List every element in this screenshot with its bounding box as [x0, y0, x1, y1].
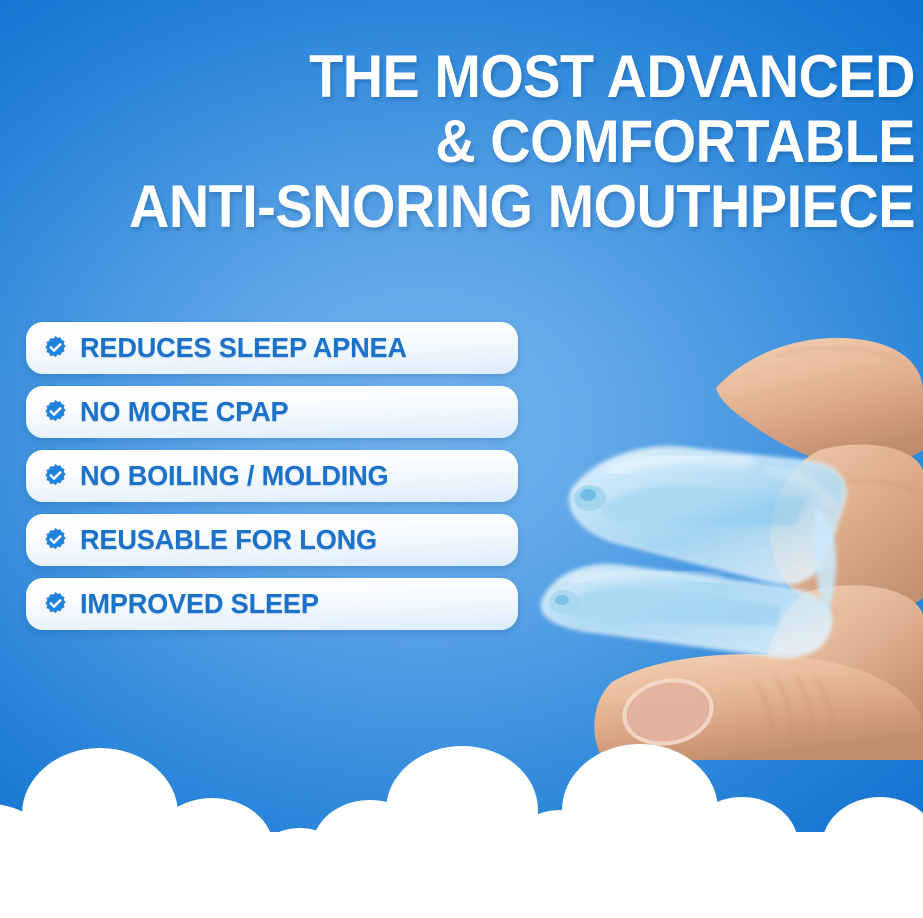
verified-check-badge-icon [42, 335, 69, 362]
feature-label: REUSABLE FOR LONG [80, 524, 377, 556]
headline-line-2: & COMFORTABLE [115, 109, 915, 174]
page-title: THE MOST ADVANCED & COMFORTABLE ANTI-SNO… [115, 44, 915, 239]
feature-item-reduces-sleep-apnea[interactable]: REDUCES SLEEP APNEA [26, 322, 518, 374]
verified-check-badge-icon [42, 527, 69, 554]
verified-check-badge-icon [42, 399, 69, 426]
promo-poster: THE MOST ADVANCED & COMFORTABLE ANTI-SNO… [0, 0, 923, 918]
verified-check-badge-icon [42, 463, 69, 490]
feature-item-no-boiling-molding[interactable]: NO BOILING / MOLDING [26, 450, 518, 502]
feature-label: NO BOILING / MOLDING [80, 460, 388, 492]
product-photo [520, 330, 923, 760]
headline-line-3: ANTI-SNORING MOUTHPIECE [115, 174, 915, 239]
feature-list: REDUCES SLEEP APNEA NO MORE CPAP NO BOIL… [26, 322, 518, 630]
headline-line-1: THE MOST ADVANCED [115, 44, 915, 109]
feature-item-reusable-for-long[interactable]: REUSABLE FOR LONG [26, 514, 518, 566]
verified-check-badge-icon [42, 591, 69, 618]
feature-label: NO MORE CPAP [80, 396, 288, 428]
feature-item-improved-sleep[interactable]: IMPROVED SLEEP [26, 578, 518, 630]
feature-item-no-more-cpap[interactable]: NO MORE CPAP [26, 386, 518, 438]
feature-label: IMPROVED SLEEP [80, 588, 319, 620]
feature-label: REDUCES SLEEP APNEA [80, 332, 407, 364]
